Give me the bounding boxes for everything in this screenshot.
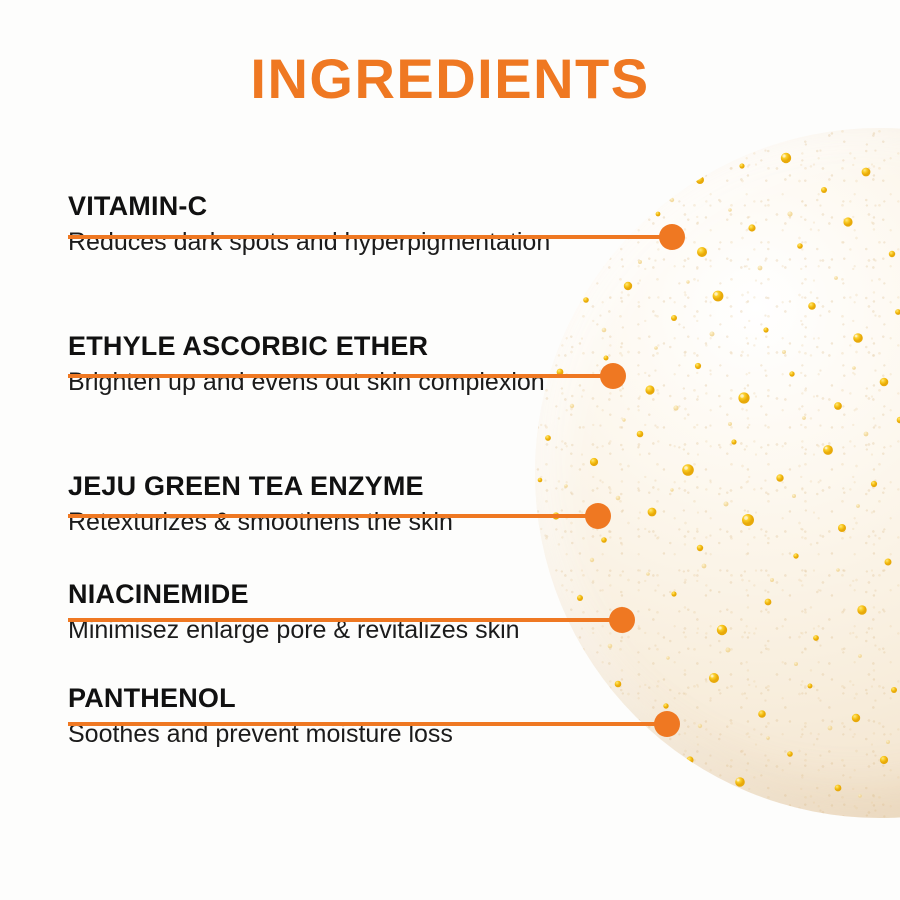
ingredient-name: NIACINEMIDE	[68, 580, 520, 608]
leader-line-panthenol	[68, 722, 667, 726]
page-title: INGREDIENTS	[0, 46, 900, 111]
leader-line-jeju-green-tea-enzyme	[68, 514, 598, 518]
ingredient-item-jeju-green-tea-enzyme: JEJU GREEN TEA ENZYME Retexturizes & smo…	[68, 472, 453, 539]
serum-blob-grain	[535, 128, 900, 818]
ingredient-item-niacinemide: NIACINEMIDE Minimisez enlarge pore & rev…	[68, 580, 520, 647]
ingredient-description: Brighten up and evens out skin complexio…	[68, 367, 545, 399]
leader-line-ethyle-ascorbic-ether	[68, 374, 613, 378]
leader-dot-niacinemide	[609, 607, 635, 633]
ingredients-infographic: INGREDIENTS VITAMIN-C Reduces dark spots…	[0, 0, 900, 900]
vitamin-bead-cluster	[0, 0, 900, 900]
leader-dot-panthenol	[654, 711, 680, 737]
leader-line-niacinemide	[68, 618, 622, 622]
leader-dot-vitamin-c	[659, 224, 685, 250]
ingredient-description: Reduces dark spots and hyperpigmentation	[68, 227, 550, 259]
ingredient-item-ethyle-ascorbic-ether: ETHYLE ASCORBIC ETHER Brighten up and ev…	[68, 332, 545, 399]
leader-dot-jeju-green-tea-enzyme	[585, 503, 611, 529]
serum-blob-base	[535, 128, 900, 818]
serum-blob-rim	[535, 128, 900, 818]
ingredient-description: Retexturizes & smoothens the skin	[68, 507, 453, 539]
ingredient-item-panthenol: PANTHENOL Soothes and prevent moisture l…	[68, 684, 453, 751]
leader-line-vitamin-c	[68, 235, 672, 239]
leader-dot-ethyle-ascorbic-ether	[600, 363, 626, 389]
ingredient-item-vitamin-c: VITAMIN-C Reduces dark spots and hyperpi…	[68, 192, 550, 259]
serum-blob-illustration	[0, 0, 900, 900]
ingredient-name: JEJU GREEN TEA ENZYME	[68, 472, 453, 500]
ingredient-name: VITAMIN-C	[68, 192, 550, 220]
ingredient-name: PANTHENOL	[68, 684, 453, 712]
ingredient-name: ETHYLE ASCORBIC ETHER	[68, 332, 545, 360]
